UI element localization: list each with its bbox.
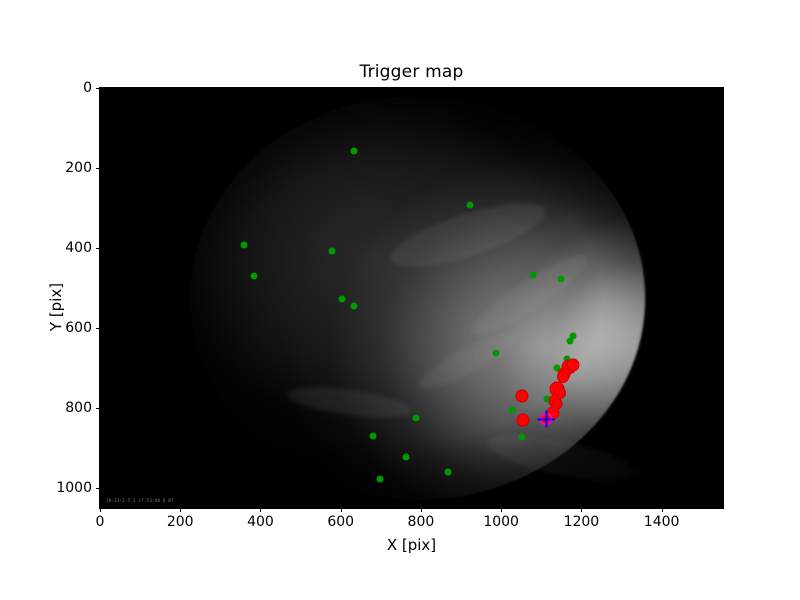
x-axis-tick (581, 508, 582, 512)
y-axis-tick (96, 88, 100, 89)
y-axis-label: Y [pix] (47, 247, 65, 367)
figure: Trigger map JH-33-2-5-2 17:53:48.8 87 02… (0, 0, 800, 600)
x-axis-tick (662, 508, 663, 512)
trigger-marker[interactable] (377, 476, 384, 483)
x-axis-tick (341, 508, 342, 512)
trigger-marker[interactable] (509, 407, 516, 414)
y-axis-tick-label: 600 (65, 320, 92, 336)
y-axis-tick (96, 328, 100, 329)
x-axis-tick (180, 508, 181, 512)
x-axis-tick-label: 1200 (564, 514, 600, 530)
y-axis-tick (96, 408, 100, 409)
x-axis-tick (100, 508, 101, 512)
x-axis-tick (501, 508, 502, 512)
trigger-marker[interactable] (250, 273, 257, 280)
trigger-marker[interactable] (413, 415, 420, 422)
x-axis-tick-label: 600 (327, 514, 354, 530)
trigger-marker[interactable] (339, 296, 346, 303)
x-axis-tick-label: 200 (167, 514, 194, 530)
trigger-marker[interactable] (403, 453, 410, 460)
y-axis-tick-label: 0 (83, 80, 92, 96)
trigger-marker[interactable] (328, 248, 335, 255)
x-axis-tick-label: 400 (247, 514, 274, 530)
x-axis-tick-label: 1400 (644, 514, 680, 530)
trigger-marker[interactable] (492, 349, 499, 356)
trigger-marker[interactable] (558, 276, 565, 283)
burned-in-timestamp: JH-33-2-5-2 17:53:48.8 87 (106, 498, 174, 503)
x-axis-tick (421, 508, 422, 512)
y-axis-tick-label: 1000 (56, 480, 92, 496)
x-axis-label: X [pix] (100, 536, 723, 554)
y-axis-tick-label: 400 (65, 240, 92, 256)
background-image (100, 88, 723, 508)
trigger-marker[interactable] (467, 201, 474, 208)
y-axis-tick-label: 800 (65, 400, 92, 416)
x-axis-tick-label: 0 (96, 514, 105, 530)
y-axis-tick (96, 248, 100, 249)
x-axis-tick-label: 800 (408, 514, 435, 530)
y-axis-tick-label: 200 (65, 160, 92, 176)
trigger-marker[interactable] (240, 241, 247, 248)
x-axis-tick-label: 1000 (483, 514, 519, 530)
x-axis-tick (260, 508, 261, 512)
trigger-marker[interactable] (530, 272, 537, 279)
plot-area[interactable]: JH-33-2-5-2 17:53:48.8 87 (100, 88, 723, 508)
selected-trigger-marker[interactable] (517, 414, 530, 427)
trigger-marker[interactable] (351, 303, 358, 310)
y-axis-tick (96, 488, 100, 489)
trigger-marker[interactable] (350, 147, 357, 154)
trigger-marker[interactable] (519, 433, 526, 440)
chart-title: Trigger map (100, 62, 723, 82)
selected-trigger-marker[interactable] (516, 390, 529, 403)
trigger-marker[interactable] (369, 433, 376, 440)
trigger-marker[interactable] (567, 337, 574, 344)
reference-point-marker[interactable] (538, 411, 555, 428)
vignette-overlay (100, 88, 723, 508)
trigger-marker[interactable] (445, 469, 452, 476)
y-axis-tick (96, 168, 100, 169)
